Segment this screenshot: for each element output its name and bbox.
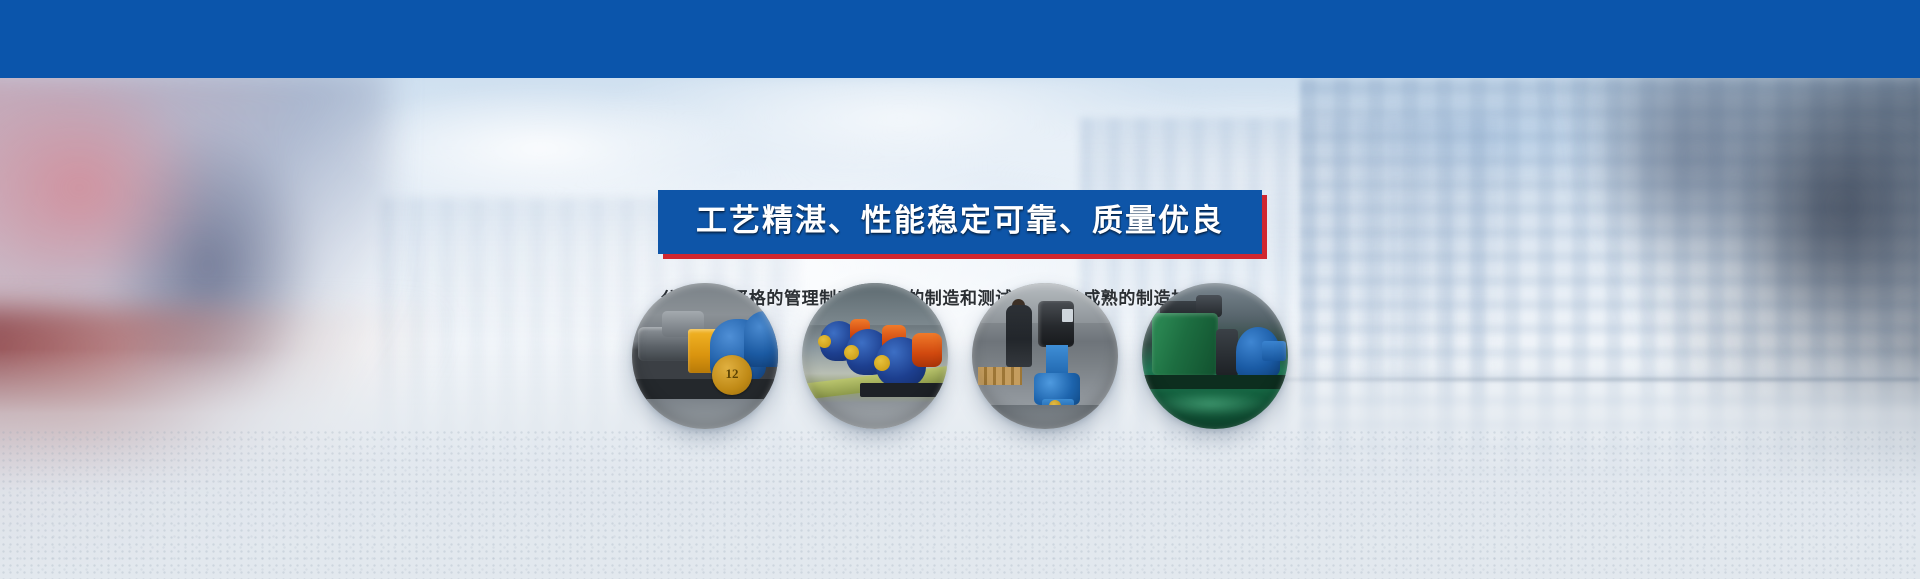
top-brand-bar bbox=[0, 0, 1920, 78]
hero-title-box: 工艺精湛、性能稳定可靠、质量优良 bbox=[658, 190, 1262, 254]
gallery-item-slurry-pump-row[interactable] bbox=[802, 283, 948, 429]
photo-vertical-inline-pump bbox=[972, 283, 1118, 429]
product-photo-gallery: 12 bbox=[0, 283, 1920, 493]
pump-nameplate: 12 bbox=[712, 355, 752, 395]
banner-page: 工艺精湛、性能稳定可靠、质量优良 公司具有严格的管理制度，先进的制造和测试装备以… bbox=[0, 0, 1920, 579]
photo-slurry-pump-row bbox=[802, 283, 948, 429]
hero-title: 工艺精湛、性能稳定可靠、质量优良 bbox=[696, 203, 1224, 240]
pump-nameplate-text: 12 bbox=[712, 366, 752, 382]
hero-banner: 工艺精湛、性能稳定可靠、质量优良 公司具有严格的管理制度，先进的制造和测试装备以… bbox=[0, 78, 1920, 579]
photo-diesel-engine-pump-set bbox=[1142, 283, 1288, 429]
gallery-item-vertical-inline-pump[interactable] bbox=[972, 283, 1118, 429]
photo-split-case-pump: 12 bbox=[632, 283, 778, 429]
gallery-item-split-case-pump[interactable]: 12 bbox=[632, 283, 778, 429]
gallery-item-diesel-engine-pump-set[interactable] bbox=[1142, 283, 1288, 429]
